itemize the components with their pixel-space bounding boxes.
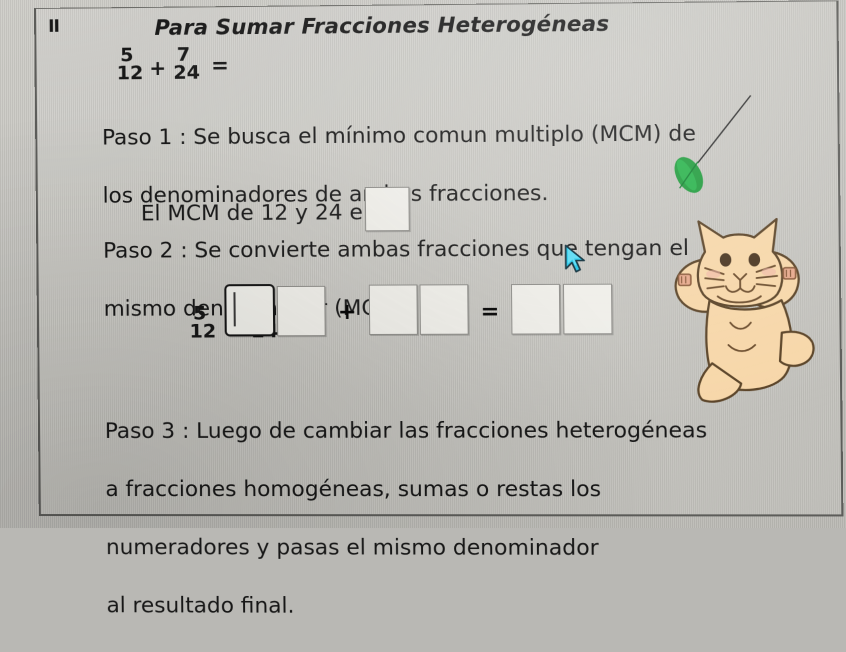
step2-answer-fractions: + =: [224, 283, 612, 341]
equals-sign: =: [211, 53, 229, 77]
worksheet-card: II Para Sumar Fracciones Heterogéneas 5 …: [34, 0, 843, 516]
step3-line3: numeradores y pasas el mismo denominador: [106, 535, 599, 561]
step3-line1: Paso 3 : Luego de cambiar las fracciones…: [105, 418, 708, 444]
blank2-denominator-input[interactable]: [419, 284, 468, 335]
equals-sign-2: =: [480, 299, 499, 324]
denominator: 12: [117, 64, 144, 83]
step3-text: Paso 3 : Luego de cambiar las fracciones…: [50, 387, 710, 652]
fraction-5-12: 5 12: [189, 304, 216, 341]
step3-line4: al resultado final.: [106, 593, 294, 619]
photographed-screen: II Para Sumar Fracciones Heterogéneas 5 …: [0, 0, 846, 528]
blank3-denominator-input[interactable]: [562, 284, 612, 335]
answer-fraction-3: [511, 284, 612, 339]
answer-fraction-2: [368, 284, 468, 339]
blank2-numerator-input[interactable]: [368, 284, 417, 335]
green-leaf-sticker: [644, 91, 766, 205]
blank3-numerator-input[interactable]: [511, 284, 560, 335]
cartoon-cat-sticker: [641, 211, 838, 406]
plus-operator: +: [149, 55, 166, 79]
blank1-numerator-input[interactable]: [224, 284, 275, 336]
step1-line1: Paso 1 : Se busca el mínimo comun multip…: [102, 121, 696, 150]
denominator: 12: [189, 322, 216, 341]
step3-line2: a fracciones homogéneas, sumas o restas …: [105, 477, 601, 502]
blank1-denominator-input[interactable]: [277, 286, 326, 336]
mouse-cursor-icon: [563, 244, 590, 274]
plus-operator-2: +: [338, 299, 357, 324]
step2-line1: Paso 2 : Se convierte ambas fracciones q…: [103, 236, 689, 264]
answer-fraction-1: [224, 284, 326, 341]
denominator: 24: [173, 64, 200, 83]
fraction-7-24: 7 24: [173, 46, 200, 83]
top-equation: 5 12 + 7 24 =: [116, 45, 235, 83]
section-marker: II: [48, 17, 59, 37]
fraction-5-12: 5 12: [116, 46, 143, 83]
text-caret: [233, 292, 235, 326]
page-title: Para Sumar Fracciones Heterogéneas: [154, 12, 609, 40]
